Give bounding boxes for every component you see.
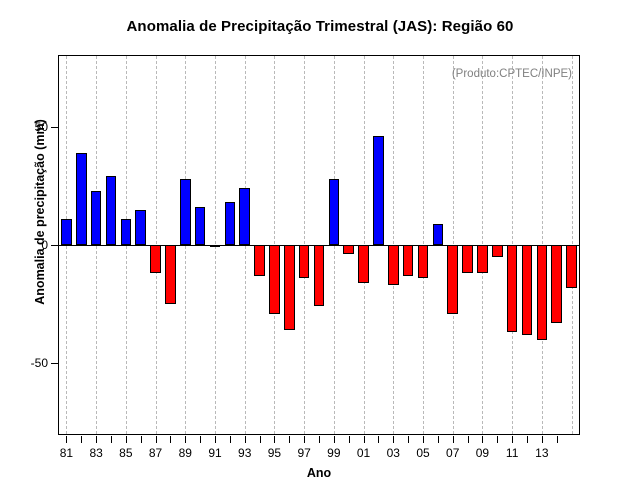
x-tick [438, 436, 439, 443]
bar [447, 245, 458, 314]
x-tick [156, 436, 157, 443]
chart-figure: Anomalia de Precipitação Trimestral (JAS… [0, 0, 640, 500]
bar [388, 245, 399, 285]
bar [239, 188, 250, 245]
x-tick [393, 436, 394, 443]
bar [403, 245, 414, 276]
x-tick-label: 93 [238, 446, 251, 460]
x-tick [527, 436, 528, 443]
x-tick [557, 436, 558, 443]
y-tick [51, 127, 58, 128]
bar [373, 136, 384, 245]
x-tick-label: 07 [446, 446, 459, 460]
x-tick [230, 436, 231, 443]
source-annotation: (Produto:CPTEC/INPE) [452, 68, 572, 80]
x-tick [304, 436, 305, 443]
y-axis: Anomalia de precipitação (mm) 500-50 [0, 55, 58, 435]
bar [210, 245, 221, 247]
x-tick [200, 436, 201, 443]
x-tick [349, 436, 350, 443]
x-tick-label: 85 [119, 446, 132, 460]
bar [91, 191, 102, 245]
bar [61, 219, 72, 245]
x-tick [96, 436, 97, 443]
bar [254, 245, 265, 276]
x-tick-label: 03 [387, 446, 400, 460]
bar [507, 245, 518, 332]
bar [76, 153, 87, 245]
bar [180, 179, 191, 245]
bar [329, 179, 340, 245]
bar [537, 245, 548, 340]
x-tick-label: 83 [89, 446, 102, 460]
x-tick [482, 436, 483, 443]
y-tick [51, 363, 58, 364]
bar [135, 210, 146, 245]
x-tick [126, 436, 127, 443]
bar [433, 224, 444, 245]
x-tick [215, 436, 216, 443]
x-tick-label: 05 [416, 446, 429, 460]
bar [150, 245, 161, 273]
bar [418, 245, 429, 278]
y-tick-label: -50 [31, 356, 48, 370]
x-tick [66, 436, 67, 443]
x-tick [260, 436, 261, 443]
x-tick [274, 436, 275, 443]
bar [299, 245, 310, 278]
y-tick-label: 0 [41, 238, 48, 252]
x-tick-label: 99 [327, 446, 340, 460]
bar [106, 176, 117, 245]
plot-area: (Produto:CPTEC/INPE) [58, 55, 580, 435]
bar [269, 245, 280, 314]
bar [195, 207, 206, 245]
bar [522, 245, 533, 335]
x-tick [364, 436, 365, 443]
x-tick [378, 436, 379, 443]
x-tick [81, 436, 82, 443]
x-tick [408, 436, 409, 443]
x-axis-title: Ano [58, 466, 580, 480]
bar [462, 245, 473, 273]
bar [477, 245, 488, 273]
x-tick [141, 436, 142, 443]
x-tick-label: 97 [297, 446, 310, 460]
bar [284, 245, 295, 330]
x-tick-label: 89 [179, 446, 192, 460]
bar [225, 202, 236, 245]
bar [165, 245, 176, 304]
x-tick [542, 436, 543, 443]
x-tick [497, 436, 498, 443]
x-tick [512, 436, 513, 443]
x-tick-label: 13 [535, 446, 548, 460]
bar [358, 245, 369, 283]
bar-series [59, 56, 579, 434]
x-tick-label: 09 [476, 446, 489, 460]
y-tick-label: 50 [35, 120, 48, 134]
x-tick-label: 81 [60, 446, 73, 460]
x-tick-label: 01 [357, 446, 370, 460]
x-tick [289, 436, 290, 443]
bar [343, 245, 354, 254]
bar [551, 245, 562, 323]
x-tick-label: 11 [506, 446, 518, 460]
bar [566, 245, 577, 288]
x-tick [453, 436, 454, 443]
x-tick [319, 436, 320, 443]
bar [492, 245, 503, 257]
x-tick [423, 436, 424, 443]
x-tick [170, 436, 171, 443]
x-tick [468, 436, 469, 443]
chart-title: Anomalia de Precipitação Trimestral (JAS… [0, 18, 640, 35]
x-tick-label: 95 [268, 446, 281, 460]
x-tick-label: 87 [149, 446, 162, 460]
x-tick-label: 91 [208, 446, 221, 460]
x-tick [111, 436, 112, 443]
bar [314, 245, 325, 306]
x-tick [334, 436, 335, 443]
x-tick [245, 436, 246, 443]
x-tick [185, 436, 186, 443]
y-tick [51, 245, 58, 246]
bar [121, 219, 132, 245]
y-axis-title: Anomalia de precipitação (mm) [33, 52, 47, 372]
